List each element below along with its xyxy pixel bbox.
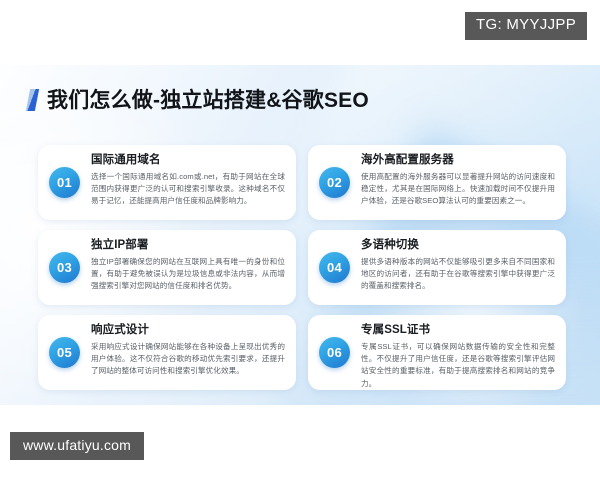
- site-watermark: www.ufatiyu.com: [10, 432, 144, 460]
- feature-card[interactable]: 04 多语种切换 提供多语种版本的网站不仅能够吸引更多来自不同国家和地区的访问者…: [308, 230, 566, 305]
- telegram-watermark: TG: MYYJJPP: [465, 12, 587, 40]
- card-body: 海外高配置服务器 使用高配置的海外服务器可以显著提升网站的访问速度和稳定性，尤其…: [361, 154, 555, 208]
- card-title: 多语种切换: [361, 239, 555, 253]
- card-body: 响应式设计 采用响应式设计确保网站能够在各种设备上呈现出优秀的用户体验。这不仅符…: [91, 324, 285, 378]
- page-title-text: 我们怎么做-独立站搭建&谷歌SEO: [47, 84, 369, 114]
- card-number-badge: 02: [319, 167, 350, 198]
- card-description: 提供多语种版本的网站不仅能够吸引更多来自不同国家和地区的访问者，还有助于在谷歌等…: [361, 256, 555, 293]
- feature-card[interactable]: 03 独立IP部署 独立IP部署确保您的网站在互联网上具有唯一的身份和位置，有助…: [38, 230, 296, 305]
- card-title: 专属SSL证书: [361, 324, 555, 338]
- content-panel: 我们怎么做-独立站搭建&谷歌SEO 01 国际通用域名 选择一个国际通用域名如.…: [0, 65, 600, 405]
- feature-card-grid: 01 国际通用域名 选择一个国际通用域名如.com或.net，有助于网站在全球范…: [38, 145, 566, 390]
- card-title: 独立IP部署: [91, 239, 285, 253]
- card-description: 独立IP部署确保您的网站在互联网上具有唯一的身份和位置，有助于避免被误认为是垃圾…: [91, 256, 285, 293]
- card-title: 响应式设计: [91, 324, 285, 338]
- title-accent-bar-icon: [26, 89, 39, 111]
- feature-card[interactable]: 06 专属SSL证书 专属SSL证书，可以确保网站数据传输的安全性和完整性。不仅…: [308, 315, 566, 390]
- card-body: 国际通用域名 选择一个国际通用域名如.com或.net，有助于网站在全球范围内获…: [91, 154, 285, 208]
- card-description: 采用响应式设计确保网站能够在各种设备上呈现出优秀的用户体验。这不仅符合谷歌的移动…: [91, 341, 285, 378]
- card-description: 使用高配置的海外服务器可以显著提升网站的访问速度和稳定性，尤其是在国际网络上。快…: [361, 171, 555, 208]
- card-title: 国际通用域名: [91, 154, 285, 168]
- page-title: 我们怎么做-独立站搭建&谷歌SEO: [28, 84, 369, 114]
- feature-card[interactable]: 01 国际通用域名 选择一个国际通用域名如.com或.net，有助于网站在全球范…: [38, 145, 296, 220]
- card-number-badge: 01: [49, 167, 80, 198]
- card-number-badge: 03: [49, 252, 80, 283]
- card-description: 专属SSL证书，可以确保网站数据传输的安全性和完整性。不仅提升了用户信任度，还是…: [361, 341, 555, 390]
- card-number-badge: 05: [49, 337, 80, 368]
- card-body: 多语种切换 提供多语种版本的网站不仅能够吸引更多来自不同国家和地区的访问者，还有…: [361, 239, 555, 293]
- card-body: 独立IP部署 独立IP部署确保您的网站在互联网上具有唯一的身份和位置，有助于避免…: [91, 239, 285, 293]
- feature-card[interactable]: 05 响应式设计 采用响应式设计确保网站能够在各种设备上呈现出优秀的用户体验。这…: [38, 315, 296, 390]
- card-number-badge: 06: [319, 337, 350, 368]
- card-title: 海外高配置服务器: [361, 154, 555, 168]
- card-number-badge: 04: [319, 252, 350, 283]
- feature-card[interactable]: 02 海外高配置服务器 使用高配置的海外服务器可以显著提升网站的访问速度和稳定性…: [308, 145, 566, 220]
- card-description: 选择一个国际通用域名如.com或.net，有助于网站在全球范围内获得更广泛的认可…: [91, 171, 285, 208]
- card-body: 专属SSL证书 专属SSL证书，可以确保网站数据传输的安全性和完整性。不仅提升了…: [361, 324, 555, 390]
